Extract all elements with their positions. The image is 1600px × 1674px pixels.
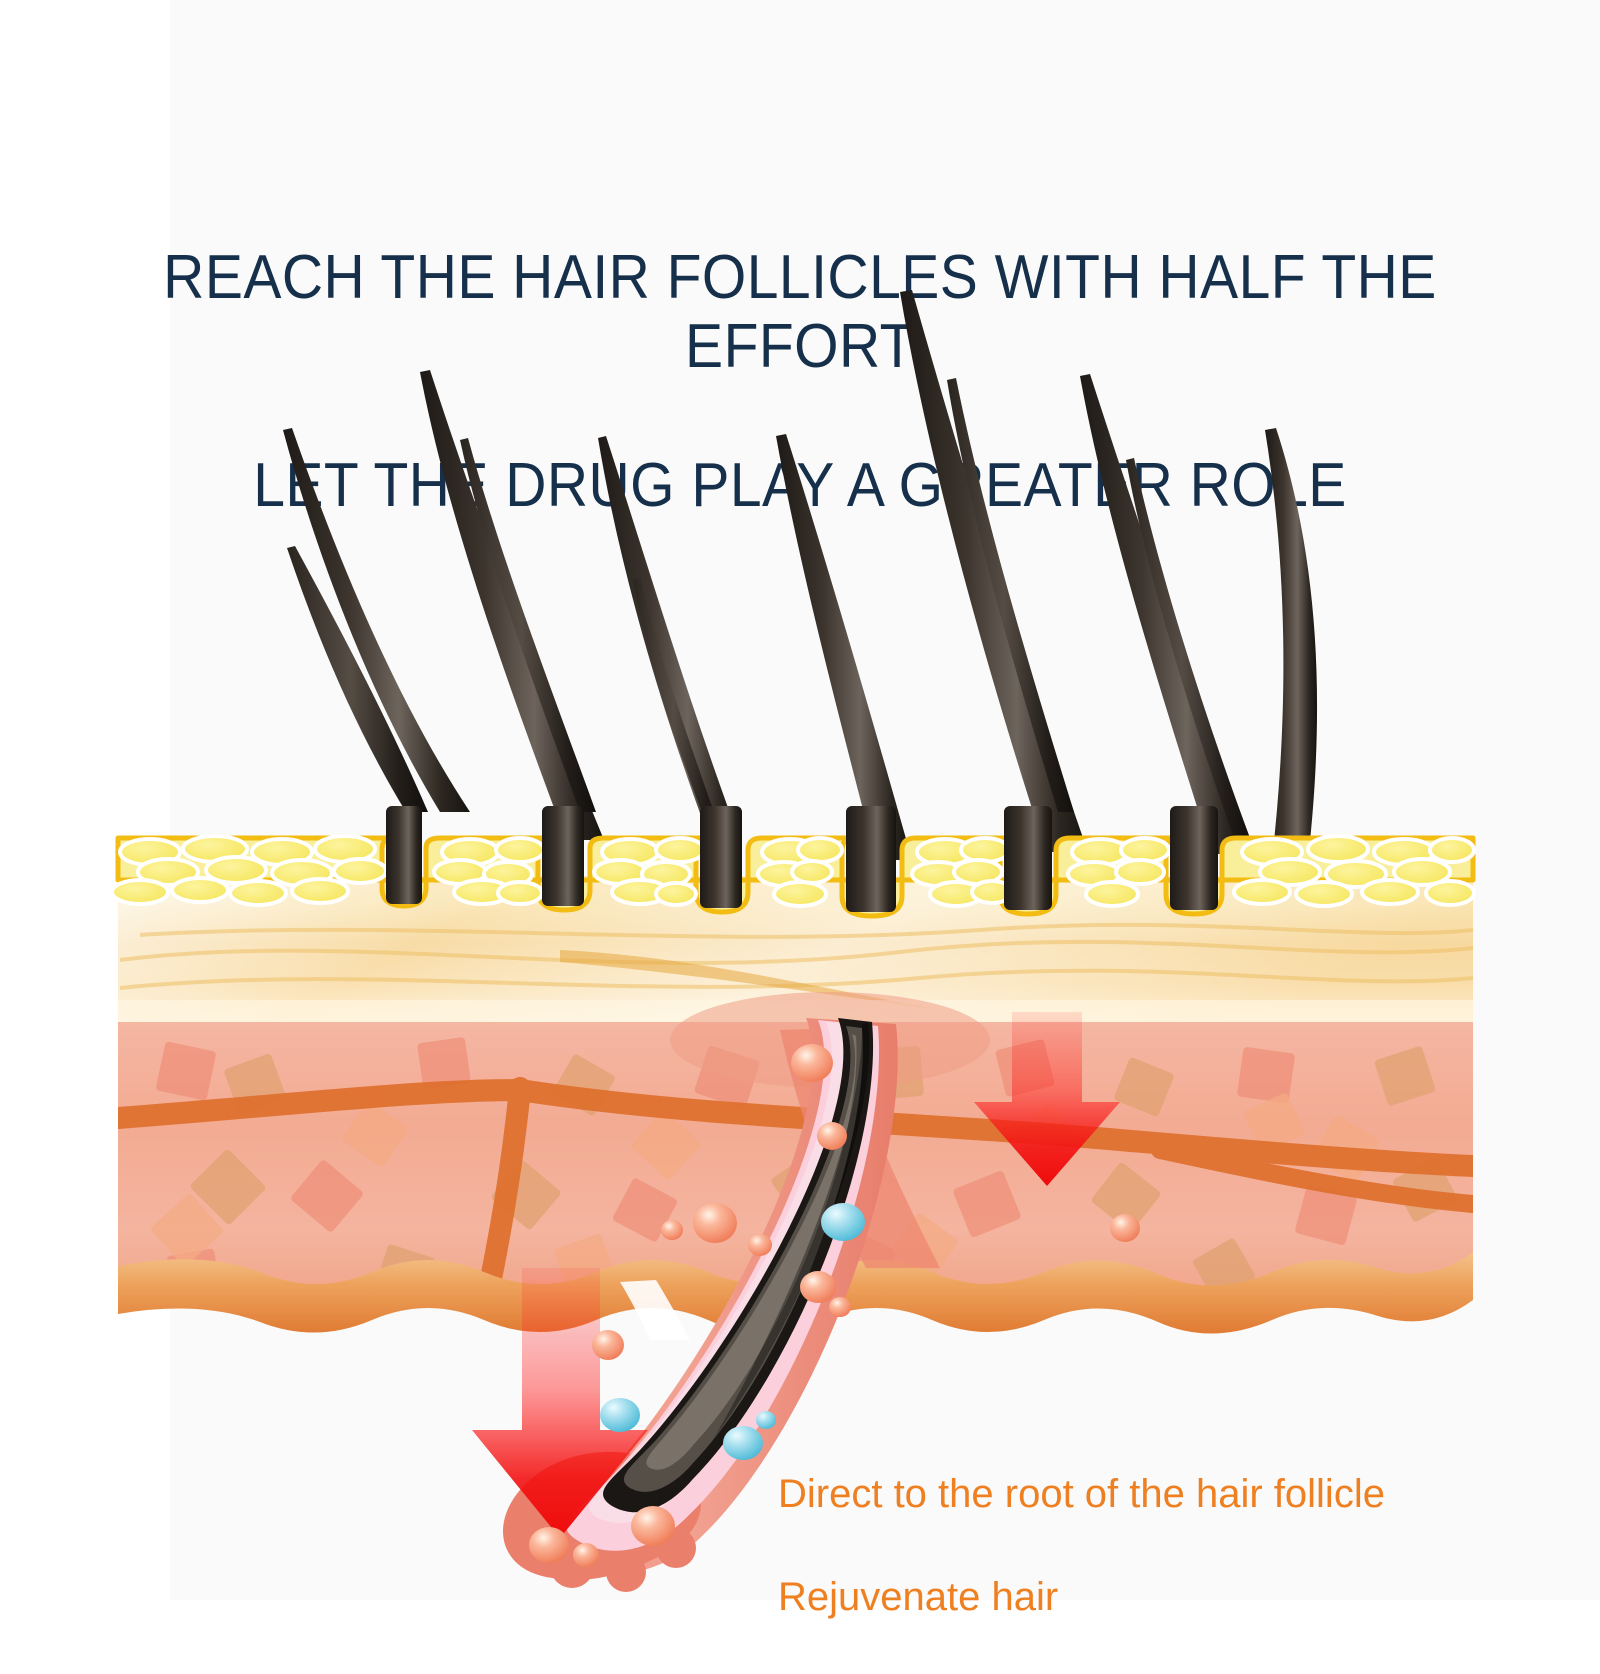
callout-caption: Direct to the root of the hair follicle … bbox=[778, 1418, 1478, 1674]
caption-line-2: Rejuvenate hair bbox=[778, 1572, 1478, 1623]
caption-line-1: Direct to the root of the hair follicle bbox=[778, 1469, 1478, 1520]
hair-strand bbox=[598, 436, 742, 846]
hair-strand bbox=[947, 378, 1074, 812]
infographic-canvas: REACH THE HAIR FOLLICLES WITH HALF THE E… bbox=[0, 0, 1600, 1600]
stratum-corneum-layer bbox=[112, 806, 1474, 916]
hair-strand bbox=[460, 438, 596, 812]
hair-strand bbox=[1126, 458, 1250, 838]
hair-strand bbox=[776, 434, 912, 860]
corneum-cells bbox=[112, 836, 1474, 906]
skin-cross-section-diagram bbox=[0, 0, 1600, 1600]
hair-strand bbox=[287, 546, 428, 812]
hair-strand bbox=[1265, 428, 1317, 860]
hair-strands-group bbox=[283, 290, 1317, 860]
